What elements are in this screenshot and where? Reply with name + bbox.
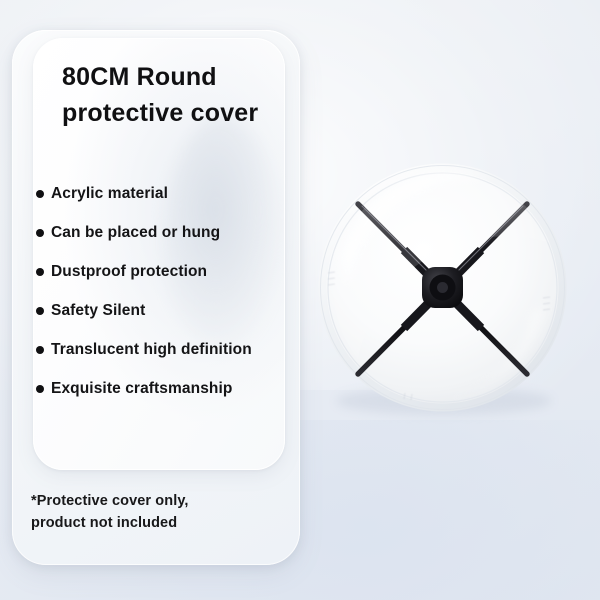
- feature-label: Can be placed or hung: [51, 224, 220, 242]
- fan-hub-cap: [437, 282, 448, 293]
- feature-list: Acrylic material Can be placed or hung D…: [36, 174, 286, 408]
- feature-label: Safety Silent: [51, 302, 145, 320]
- bullet-dot-icon: [36, 229, 44, 237]
- feature-label: Acrylic material: [51, 185, 168, 203]
- bullet-dot-icon: [36, 190, 44, 198]
- list-item: Safety Silent: [36, 291, 286, 330]
- list-item: Translucent high definition: [36, 330, 286, 369]
- list-item: Dustproof protection: [36, 252, 286, 291]
- page-title: 80CM Round protective cover: [62, 60, 292, 131]
- feature-label: Translucent high definition: [51, 341, 252, 359]
- feature-label: Exquisite craftsmanship: [51, 380, 232, 398]
- feature-label: Dustproof protection: [51, 263, 207, 281]
- disclaimer-note: *Protective cover only, product not incl…: [31, 490, 281, 534]
- list-item: Can be placed or hung: [36, 213, 286, 252]
- bullet-dot-icon: [36, 385, 44, 393]
- bullet-dot-icon: [36, 307, 44, 315]
- product-promo-image: 80CM Round protective cover Acrylic mate…: [0, 0, 600, 600]
- list-item: Acrylic material: [36, 174, 286, 213]
- bullet-dot-icon: [36, 268, 44, 276]
- bullet-dot-icon: [36, 346, 44, 354]
- product-image: [318, 163, 567, 412]
- list-item: Exquisite craftsmanship: [36, 369, 286, 408]
